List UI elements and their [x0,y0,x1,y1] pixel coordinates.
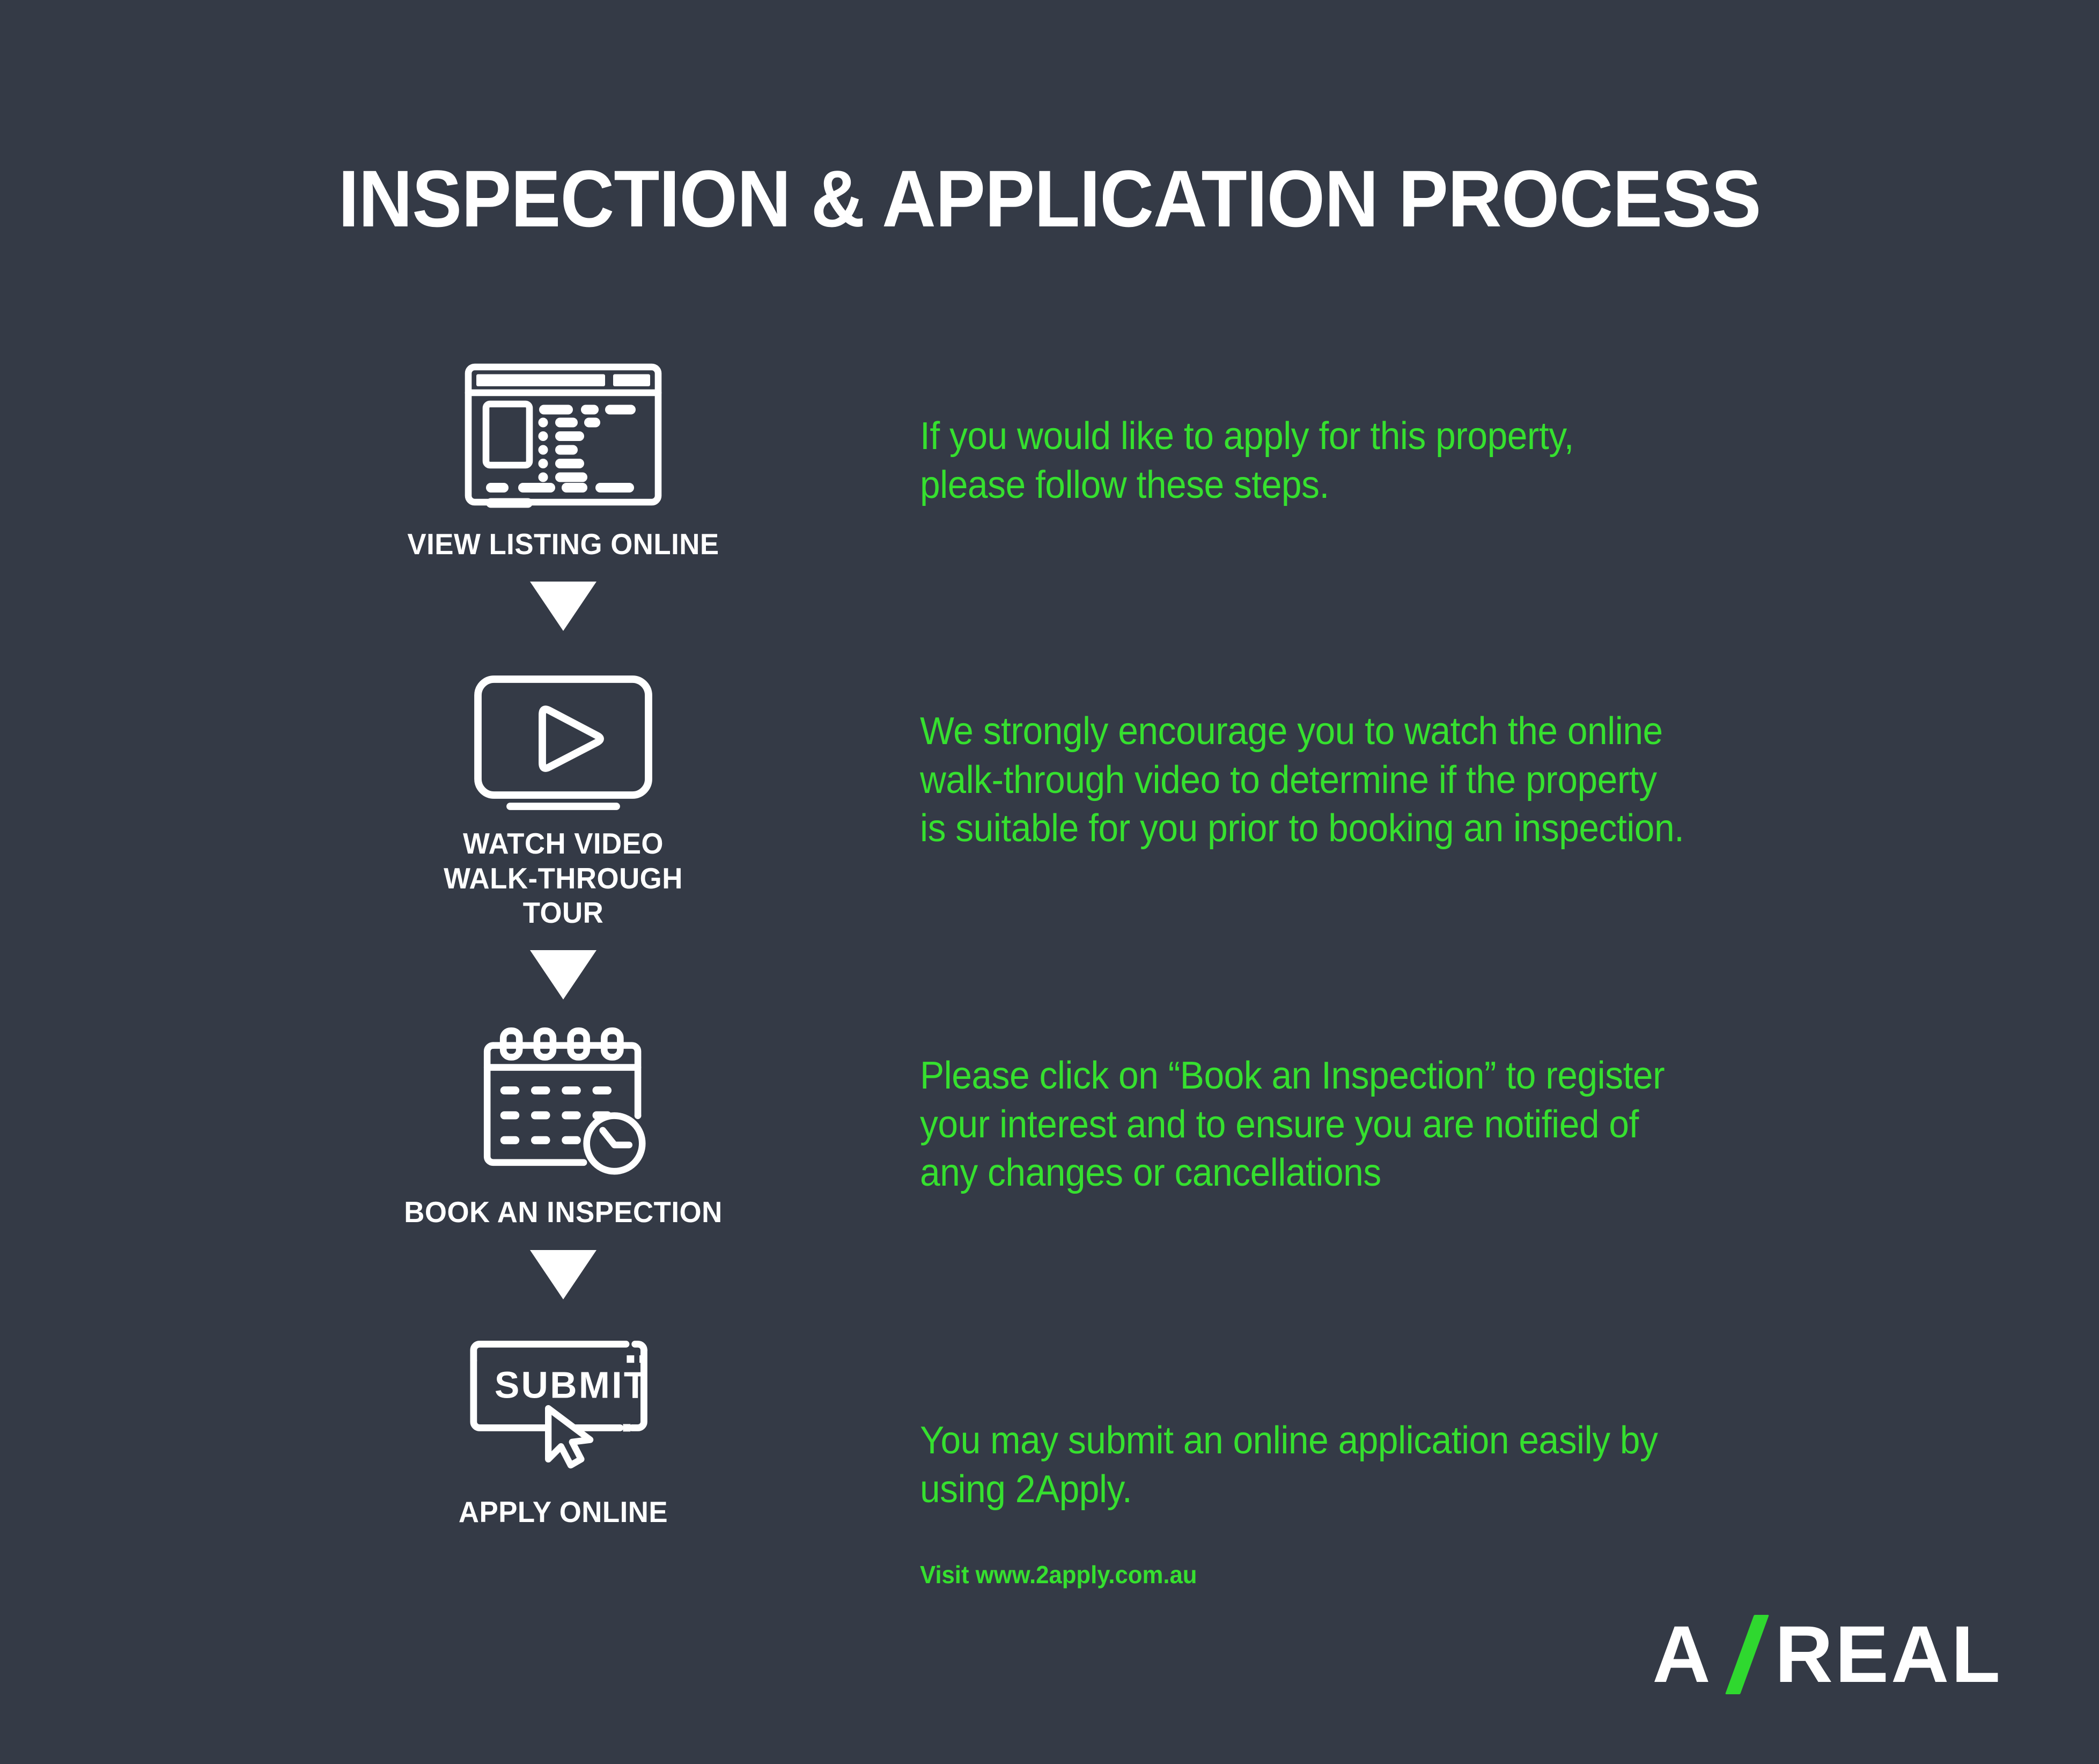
step-label-view-listing: VIEW LISTING ONLINE [403,527,723,561]
video-play-monitor-icon [459,653,668,814]
listing-window-icon [459,354,668,515]
step-label-watch-video: WATCH VIDEO WALK-THROUGH TOUR [403,826,723,930]
step-watch-video[interactable]: WATCH VIDEO WALK-THROUGH TOUR [397,653,730,930]
step-label-apply-online: APPLY ONLINE [403,1495,723,1529]
submit-icon-text: SUBMIT [495,1364,649,1406]
triangle-down-icon [530,582,596,631]
brand-logo: A REAL [1652,1614,2002,1694]
infographic-page: INSPECTION & APPLICATION PROCESS [0,0,2099,1764]
copy-block-book: Please click on “Book an Inspection” to … [920,1052,1665,1197]
copy-block-video: We strongly encourage you to watch the o… [920,707,1684,853]
step-flow: VIEW LISTING ONLINE WATCH VIDEO WALK-THR… [397,354,730,1529]
step-view-listing[interactable]: VIEW LISTING ONLINE [397,354,730,561]
green-slash-icon [1720,1614,1772,1694]
triangle-down-icon [530,950,596,999]
logo-word-real: REAL [1775,1614,2002,1694]
logo-letter-a: A [1652,1614,1712,1694]
page-title: INSPECTION & APPLICATION PROCESS [73,157,2026,241]
step-apply-online[interactable]: SUBMIT APPLY ONLINE [397,1322,730,1529]
copy-block-apply: You may submit an online application eas… [920,1416,1658,1513]
copy-block-intro: If you would like to apply for this prop… [920,412,1574,509]
step-book-inspection[interactable]: BOOK AN INSPECTION [397,1022,730,1229]
calendar-clock-icon [459,1022,668,1183]
submit-button-cursor-icon: SUBMIT [459,1322,668,1483]
step-label-book-inspection: BOOK AN INSPECTION [403,1195,723,1229]
triangle-down-icon [530,1250,596,1299]
visit-link[interactable]: Visit www.2apply.com.au [920,1560,1197,1589]
